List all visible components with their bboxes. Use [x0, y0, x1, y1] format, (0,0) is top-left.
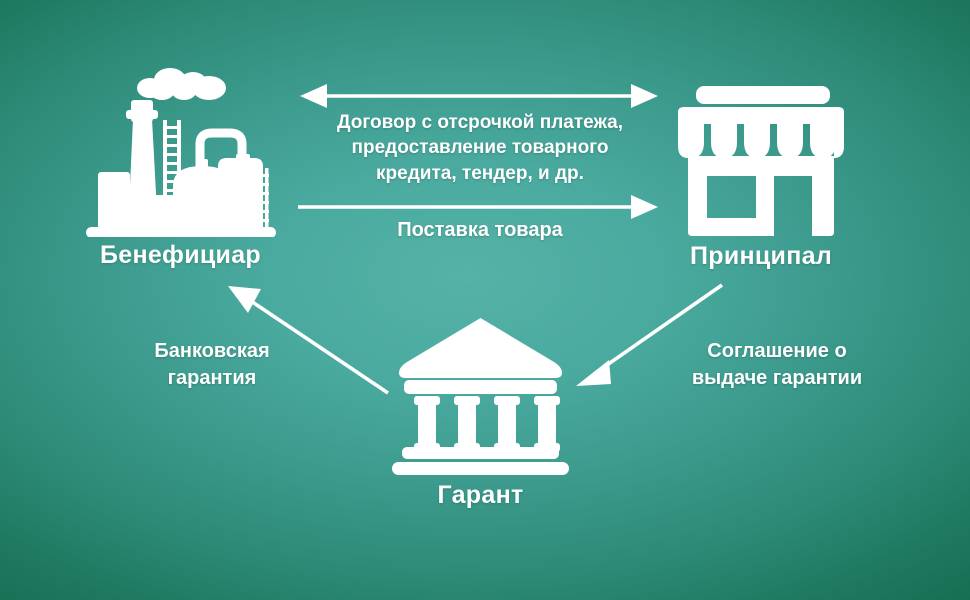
edge-label-contract-line-1: Договор с отсрочкой платежа, — [300, 110, 660, 135]
edge-label-bank-guarantee-line-2: гарантия — [112, 365, 312, 392]
arrowhead-right — [631, 195, 658, 219]
edge-label-guarantee-agreement-line-1: Соглашение о — [664, 338, 890, 365]
factory-icon — [78, 62, 283, 237]
shop-icon — [666, 84, 856, 236]
edge-label-contract: Договор с отсрочкой платежа, предоставле… — [300, 110, 660, 186]
arrowhead-left — [300, 84, 327, 108]
edge-label-guarantee-agreement: Соглашение о выдаче гарантии — [664, 338, 890, 391]
node-guarantor[interactable]: Гарант — [378, 314, 583, 510]
arrowhead-upleft — [228, 286, 261, 313]
node-guarantor-label: Гарант — [378, 481, 583, 510]
arrowhead-right — [631, 84, 658, 108]
edge-label-bank-guarantee: Банковская гарантия — [112, 338, 312, 391]
edge-label-goods-delivery-line-1: Поставка товара — [300, 217, 660, 244]
edge-label-contract-line-2: предоставление товарного — [300, 135, 660, 160]
node-beneficiary[interactable]: Бенефициар — [78, 62, 283, 270]
arrow-goods-delivery — [298, 195, 658, 219]
bank-icon — [378, 314, 583, 479]
arrow-contract-bidirectional — [300, 84, 658, 108]
edge-label-goods-delivery: Поставка товара — [300, 217, 660, 244]
diagram-canvas: Бенефициар Принципал — [0, 0, 970, 600]
node-principal-label: Принципал — [666, 242, 856, 271]
node-beneficiary-label: Бенефициар — [78, 241, 283, 270]
edge-label-contract-line-3: кредита, тендер, и др. — [300, 161, 660, 186]
edge-label-guarantee-agreement-line-2: выдаче гарантии — [664, 365, 890, 392]
edge-label-bank-guarantee-line-1: Банковская — [112, 338, 312, 365]
node-principal[interactable]: Принципал — [666, 84, 856, 271]
